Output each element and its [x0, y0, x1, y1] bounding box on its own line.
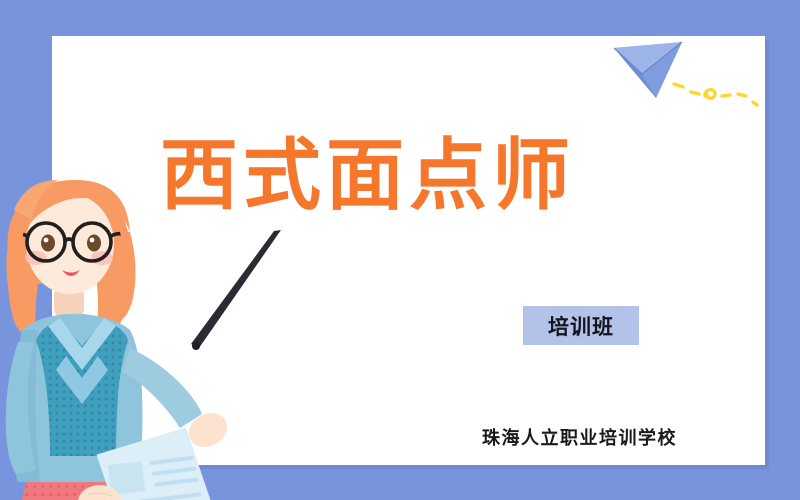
pointer-stick-icon [175, 228, 290, 358]
poster-canvas: 西式面点师 培训班 珠海人立职业培训学校 [0, 0, 800, 500]
badge-label: 培训班 [548, 311, 614, 341]
status-badge: 培训班 [523, 306, 639, 345]
dashed-trail-icon [672, 78, 764, 117]
school-name: 珠海人立职业培训学校 [482, 424, 677, 450]
